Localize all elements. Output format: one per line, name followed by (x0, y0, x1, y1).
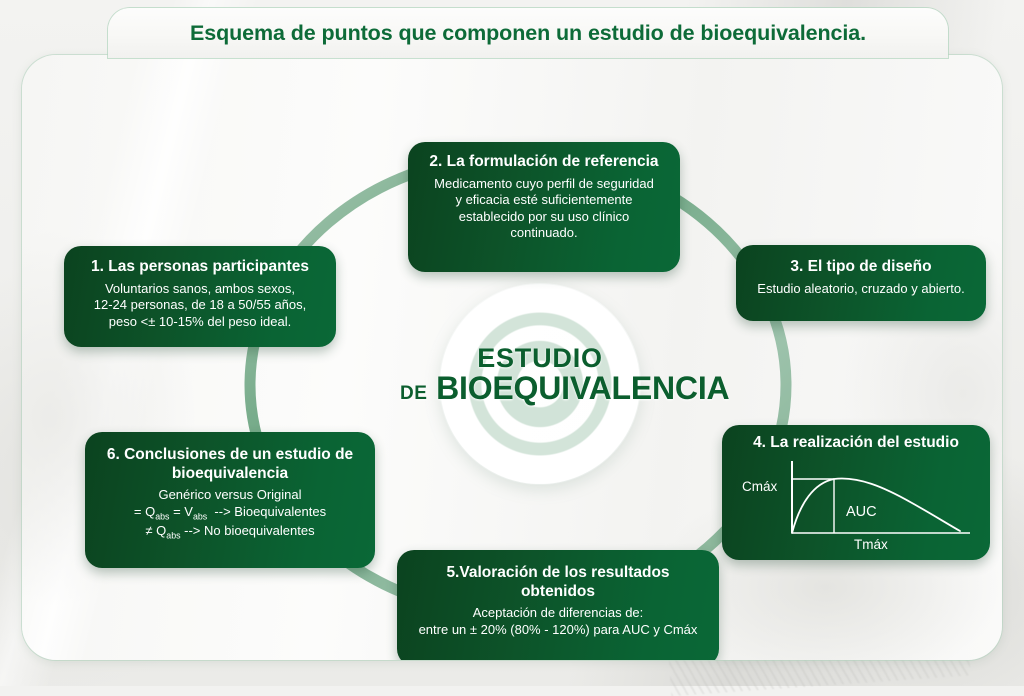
logo-text: ESTUDIO DE BIOEQUIVALENCIA (400, 344, 680, 405)
pk-cmax-label: Cmáx (742, 479, 777, 494)
step-box-2-title: 2. La formulación de referencia (420, 153, 668, 172)
step-box-5-body: Aceptación de diferencias de: entre un ±… (409, 605, 707, 638)
logo-line-1: ESTUDIO (400, 344, 680, 372)
step-box-2-line-2: y eficacia esté suficientemente (420, 192, 668, 209)
step-box-2[interactable]: 2. La formulación de referencia Medicame… (408, 142, 680, 272)
step-box-1-body: Voluntarios sanos, ambos sexos, 12-24 pe… (76, 281, 324, 331)
step-box-6-title: 6. Conclusiones de un estudio de bioequi… (97, 446, 363, 483)
logo-line-2: DE BIOEQUIVALENCIA (400, 372, 680, 405)
step-box-1-line-1: Voluntarios sanos, ambos sexos, (76, 281, 324, 298)
center-logo: ESTUDIO DE BIOEQUIVALENCIA (440, 284, 640, 484)
step-box-2-line-4: continuado. (420, 225, 668, 242)
step-box-1-line-2: 12-24 personas, de 18 a 50/55 años, (76, 297, 324, 314)
step-box-3-line-1: Estudio aleatorio, cruzado y abierto. (748, 281, 974, 298)
pk-auc-label: AUC (846, 504, 877, 520)
step-box-4[interactable]: 4. La realización del estudio Cmáx AUC T… (722, 425, 990, 560)
step-box-6[interactable]: 6. Conclusiones de un estudio de bioequi… (85, 432, 375, 568)
step-box-1-title: 1. Las personas participantes (76, 258, 324, 277)
header-tab: Esquema de puntos que componen un estudi… (108, 8, 948, 58)
step-box-3[interactable]: 3. El tipo de diseño Estudio aleatorio, … (736, 245, 986, 321)
step-box-6-body: Genérico versus Original = Qabs = Vabs -… (97, 487, 363, 541)
step-box-3-title: 3. El tipo de diseño (748, 258, 974, 277)
step-box-5[interactable]: 5.Valoración de los resultados obtenidos… (397, 550, 719, 660)
step-box-5-title: 5.Valoración de los resultados obtenidos (409, 564, 707, 601)
main-panel: ESTUDIO DE BIOEQUIVALENCIA 1. Las person… (22, 55, 1002, 660)
page-title: Esquema de puntos que componen un estudi… (190, 21, 866, 46)
step-box-5-line-1: Aceptación de diferencias de: (409, 605, 707, 622)
step-box-6-line-2: = Qabs = Vabs --> Bioequivalentes (97, 504, 363, 523)
logo-bioequivalencia: BIOEQUIVALENCIA (436, 370, 729, 406)
step-box-6-line-1: Genérico versus Original (97, 487, 363, 504)
pk-chart: Cmáx AUC Tmáx (734, 457, 978, 553)
step-box-6-line-3: ≠ Qabs --> No bioequivalentes (97, 523, 363, 542)
step-box-3-body: Estudio aleatorio, cruzado y abierto. (748, 281, 974, 298)
logo-de: DE (400, 383, 427, 404)
step-box-1[interactable]: 1. Las personas participantes Voluntario… (64, 246, 336, 347)
step-box-2-body: Medicamento cuyo perfil de seguridad y e… (420, 176, 668, 243)
step-box-2-line-3: establecido por su uso clínico (420, 209, 668, 226)
pk-tmax-label: Tmáx (854, 537, 888, 552)
step-box-2-line-1: Medicamento cuyo perfil de seguridad (420, 176, 668, 193)
step-box-4-title: 4. La realización del estudio (734, 434, 978, 453)
step-box-1-line-3: peso <± 10-15% del peso ideal. (76, 314, 324, 331)
step-box-5-line-2: entre un ± 20% (80% - 120%) para AUC y C… (409, 622, 707, 639)
